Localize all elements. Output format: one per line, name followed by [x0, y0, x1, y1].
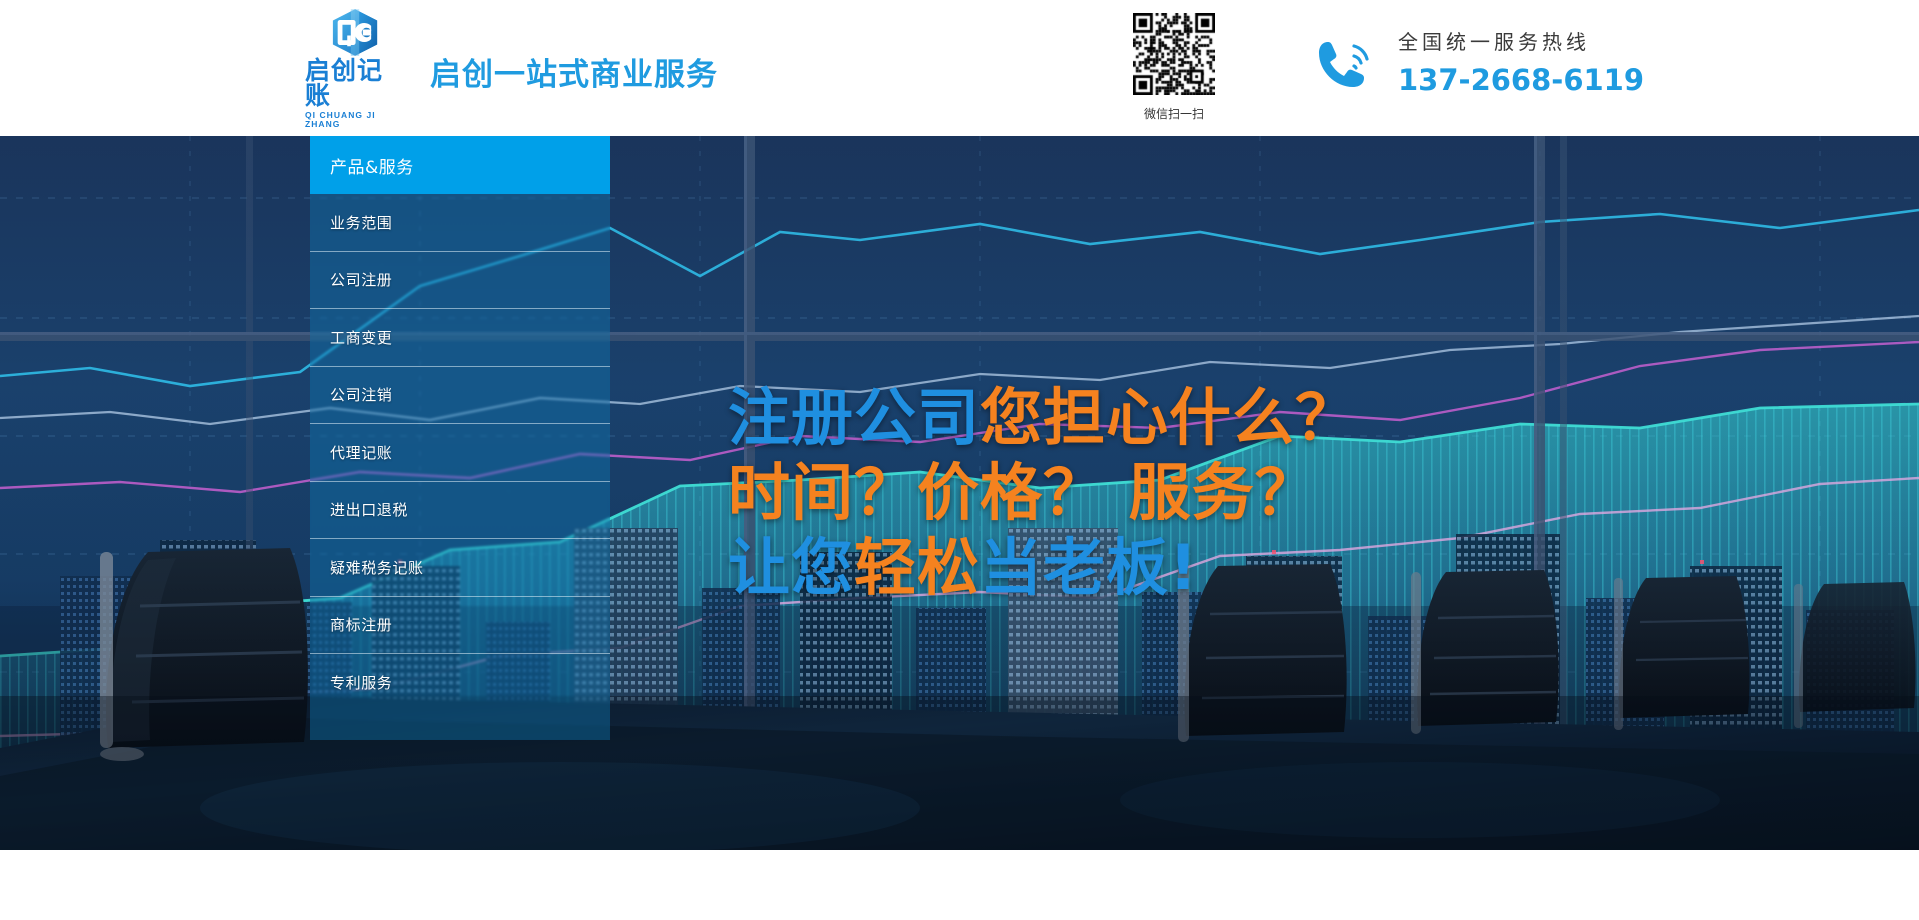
logo-name-en: QI CHUANG JI ZHANG: [305, 111, 405, 128]
sidebar-item-company-deregistration[interactable]: 公司注销: [310, 367, 610, 425]
sidebar-item-patent-service[interactable]: 专利服务: [310, 654, 610, 712]
sidebar-item-difficult-tax-bookkeeping[interactable]: 疑难税务记账: [310, 539, 610, 597]
headline-line-1: 注册公司您担心什么？: [728, 380, 1358, 455]
sidebar-item-label: 进出口退税: [330, 499, 408, 520]
logo-wrap: 启创记账 QI CHUANG JI ZHANG: [305, 8, 405, 128]
sidebar-item-label: 公司注销: [330, 384, 392, 405]
sidebar-item-label: 业务范围: [330, 212, 392, 233]
headline-3-blue-b: 当老板!: [980, 531, 1198, 604]
sidebar-item-label: 代理记账: [330, 442, 392, 463]
headline-1-orange: 您担心什么？: [980, 381, 1358, 454]
sidebar-item-label: 公司注册: [330, 269, 392, 290]
sidebar-header[interactable]: 产品&服务: [310, 136, 610, 194]
hero-headline: 注册公司您担心什么？ 时间？价格？ 服务？ 让您轻松当老板!: [728, 380, 1358, 605]
sidebar-item-trademark-registration[interactable]: 商标注册: [310, 597, 610, 655]
service-nav-sidebar[interactable]: 产品&服务 业务范围 公司注册 工商变更 公司注销 代理记账 进出口退税 疑难税…: [310, 136, 610, 740]
sidebar-item-label: 工商变更: [330, 327, 392, 348]
sidebar-item-import-export-tax-refund[interactable]: 进出口退税: [310, 482, 610, 540]
hotline-number[interactable]: 137-2668-6119: [1398, 63, 1644, 97]
hotline-label: 全国统一服务热线: [1398, 28, 1644, 56]
headline-3-orange: 轻松: [854, 531, 980, 604]
logo-name-cn: 启创记账: [305, 58, 405, 108]
headline-1-blue: 注册公司: [728, 381, 980, 454]
phone-ring-icon: [1314, 32, 1376, 94]
qr-code-icon: [1133, 13, 1215, 95]
wechat-qr-block: 微信扫一扫: [1124, 13, 1224, 122]
sidebar-item-label: 专利服务: [330, 672, 392, 693]
sidebar-item-label: 商标注册: [330, 614, 392, 635]
hexagon-qc-logo-icon: [312, 8, 398, 57]
sidebar-item-business-change[interactable]: 工商变更: [310, 309, 610, 367]
sidebar-nav-list: 业务范围 公司注册 工商变更 公司注销 代理记账 进出口退税 疑难税务记账 商标…: [310, 194, 610, 712]
sidebar-item-company-registration[interactable]: 公司注册: [310, 252, 610, 310]
headline-line-3: 让您轻松当老板!: [728, 530, 1358, 605]
sidebar-item-label: 疑难税务记账: [330, 557, 424, 578]
sidebar-item-business-scope[interactable]: 业务范围: [310, 194, 610, 252]
brand-slogan: 启创一站式商业服务: [430, 49, 718, 94]
sidebar-header-label: 产品&服务: [330, 153, 414, 178]
headline-3-blue-a: 让您: [728, 531, 854, 604]
site-header: 启创记账 QI CHUANG JI ZHANG 启创一站式商业服务 微信扫一扫 …: [0, 0, 1919, 136]
qr-caption: 微信扫一扫: [1124, 105, 1224, 122]
sidebar-item-agency-bookkeeping[interactable]: 代理记账: [310, 424, 610, 482]
hotline-text: 全国统一服务热线 137-2668-6119: [1398, 28, 1644, 97]
hero-banner: 产品&服务 业务范围 公司注册 工商变更 公司注销 代理记账 进出口退税 疑难税…: [0, 136, 1919, 850]
headline-2-orange: 时间？价格？ 服务？: [728, 456, 1318, 529]
brand-logo-block[interactable]: 启创记账 QI CHUANG JI ZHANG 启创一站式商业服务: [305, 8, 718, 128]
headline-line-2: 时间？价格？ 服务？: [728, 455, 1358, 530]
hotline-block: 全国统一服务热线 137-2668-6119: [1314, 28, 1644, 97]
